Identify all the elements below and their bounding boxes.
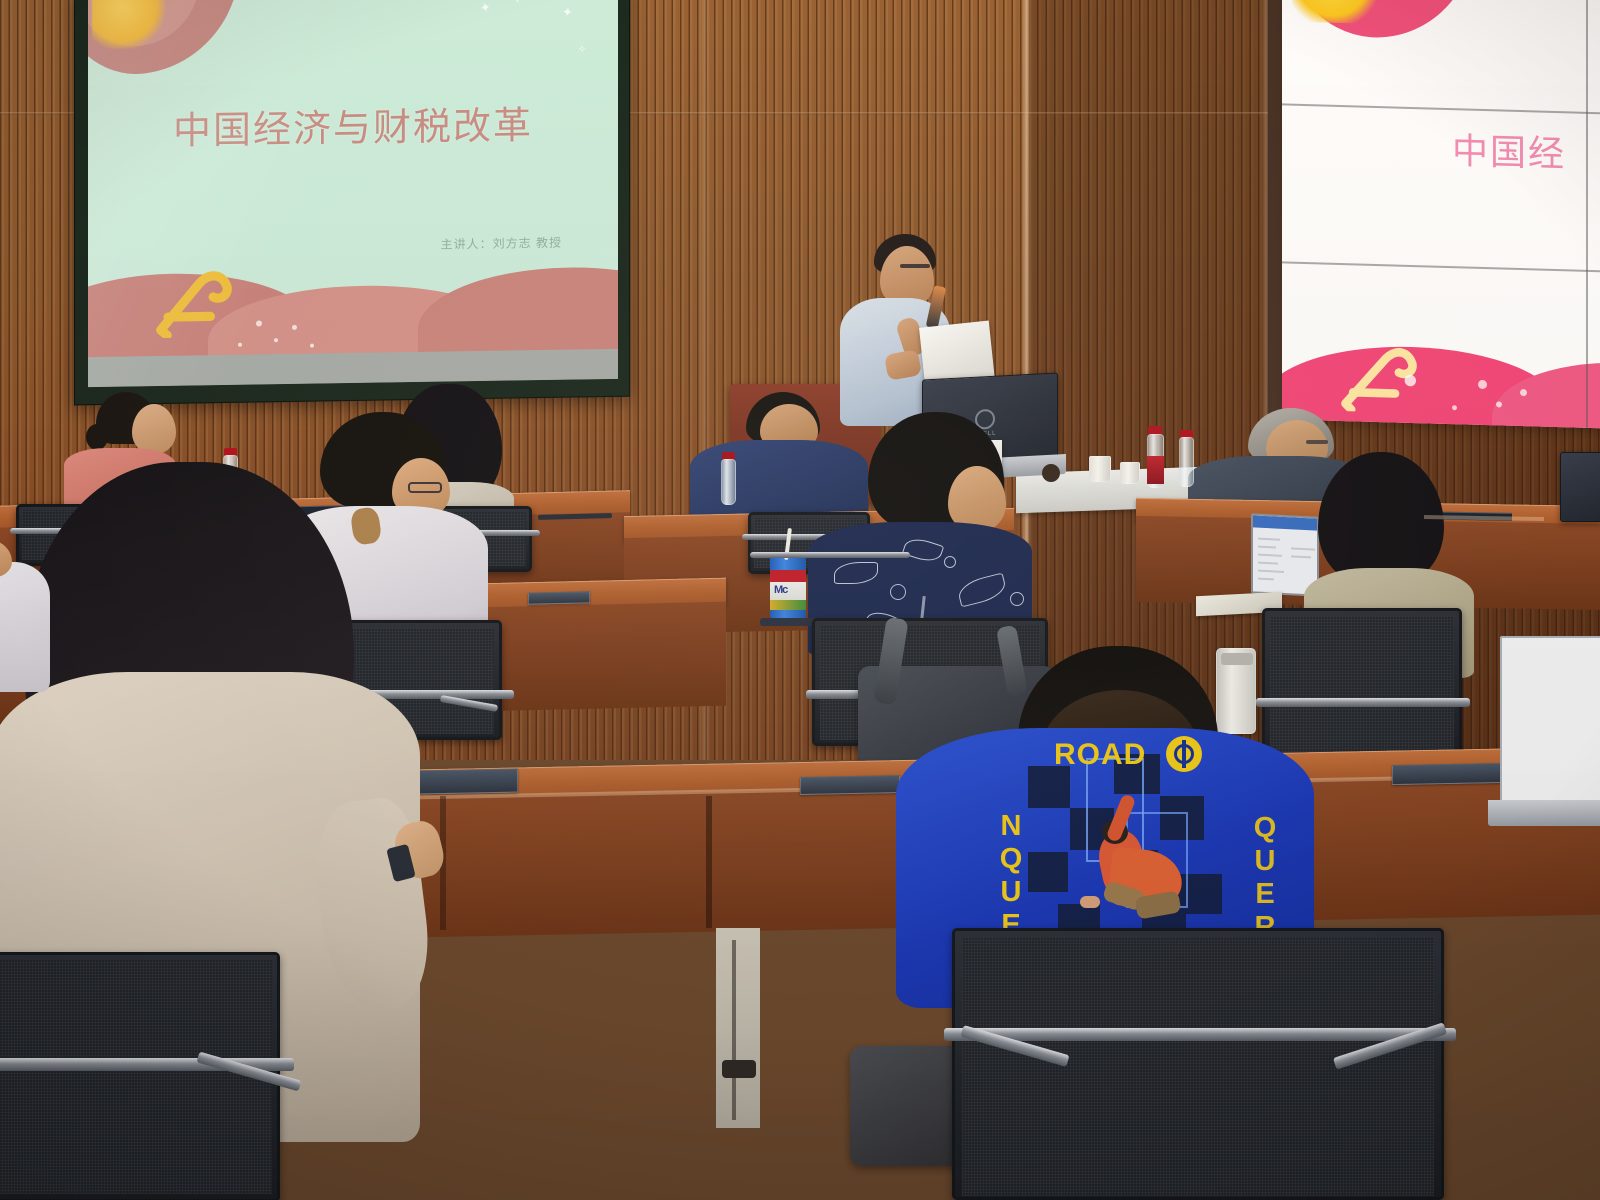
whale-print-motif — [956, 573, 1008, 608]
led-panel-seam — [1586, 0, 1588, 428]
whale-print-motif — [834, 562, 878, 584]
bottle-body — [721, 459, 736, 505]
dove-icon: ✦ — [479, 0, 492, 15]
thermos-flask[interactable] — [1216, 648, 1256, 734]
thermos-lid — [1221, 653, 1253, 665]
dove-icon: ✦ — [561, 5, 574, 19]
paper-cup[interactable] — [1120, 462, 1140, 484]
hair-bun — [86, 424, 108, 450]
document-text-line — [1258, 570, 1284, 573]
cup-brand-text: Mc — [774, 584, 787, 596]
chair-chrome-arm — [944, 1028, 1456, 1041]
chair-chrome-arm — [750, 552, 910, 558]
attendee-torso — [0, 562, 50, 692]
slide-title: 中国经济与财税改革 — [88, 93, 618, 156]
eyeglasses-icon — [1306, 440, 1328, 444]
document-text-line — [1258, 578, 1274, 581]
ring-print-motif — [1010, 592, 1024, 606]
chair-mesh — [962, 938, 1434, 1196]
cup-label-band — [770, 570, 806, 582]
document-text-line — [1258, 554, 1282, 557]
hoodie-badge-icon — [1166, 736, 1202, 772]
app-header-bar — [1253, 515, 1317, 531]
hoodie-graphic — [1018, 754, 1238, 954]
desk-pad — [800, 775, 900, 795]
document-text-line — [1291, 555, 1311, 558]
mccafe-drink-cup[interactable]: Mc — [770, 556, 806, 622]
document-text-line — [1258, 538, 1280, 541]
desk-pad — [1392, 763, 1506, 785]
floor-gap — [716, 928, 760, 1128]
chair-mesh — [0, 960, 272, 1194]
party-emblem-icon — [1328, 329, 1424, 414]
led-video-wall: 中国经 — [1282, 0, 1600, 429]
chair-mesh — [1270, 616, 1454, 752]
hoodie-text-road: ROAD — [1054, 738, 1146, 772]
laptop-silver-open[interactable] — [1500, 636, 1600, 804]
lecture-hall-photo: 中国经 ✦ ✧ ✦ ✧ 中国经济与财税改革 主讲人：刘方志 教授 — [0, 0, 1600, 1200]
led-gold-glow — [1292, 0, 1382, 24]
projection-screen-surface: ✦ ✧ ✦ ✧ 中国经济与财税改革 主讲人：刘方志 教授 — [88, 0, 618, 387]
cup-label-band — [770, 600, 806, 610]
projection-screen: ✦ ✧ ✦ ✧ 中国经济与财税改革 主讲人：刘方志 教授 — [74, 0, 630, 405]
bottle-label — [1147, 456, 1164, 484]
led-panel-seam — [1282, 261, 1600, 272]
chair-chrome-arm — [1256, 698, 1470, 707]
dove-icon: ✧ — [512, 0, 523, 5]
paper-cup[interactable] — [1089, 456, 1111, 482]
laptop-far-right[interactable] — [1560, 452, 1600, 522]
presentation-slide: ✦ ✧ ✦ ✧ 中国经济与财税改革 主讲人：刘方志 教授 — [88, 0, 618, 359]
eyeglasses-icon — [900, 264, 930, 268]
desk-panel-divider — [706, 796, 712, 928]
floor-cable — [732, 940, 736, 1120]
desk-pad — [528, 591, 590, 604]
slide-subtitle: 主讲人：刘方志 教授 — [441, 234, 562, 253]
led-panel-seam — [1282, 103, 1600, 114]
hoodie-text-right: QUER — [1248, 812, 1281, 944]
ring-print-motif — [890, 584, 906, 600]
cup-coaster — [760, 618, 818, 626]
party-emblem-icon — [146, 253, 238, 338]
whale-print-motif — [902, 535, 944, 566]
ring-print-motif — [944, 556, 956, 568]
led-wall-title: 中国经 — [1452, 122, 1566, 177]
small-dark-object — [1042, 464, 1060, 482]
laptop-silver-base[interactable] — [1488, 800, 1600, 826]
slide-gold-glow — [92, 0, 168, 49]
slide-hill-decor — [418, 265, 618, 359]
attendee-head — [132, 404, 176, 454]
bottle-body — [1179, 437, 1194, 487]
document-text-line — [1258, 546, 1276, 549]
document-text-line — [1291, 547, 1315, 550]
eyeglasses-icon — [408, 482, 442, 493]
floor-cable-clip — [722, 1060, 756, 1078]
dove-icon: ✧ — [578, 45, 586, 55]
document-text-line — [1258, 562, 1278, 565]
